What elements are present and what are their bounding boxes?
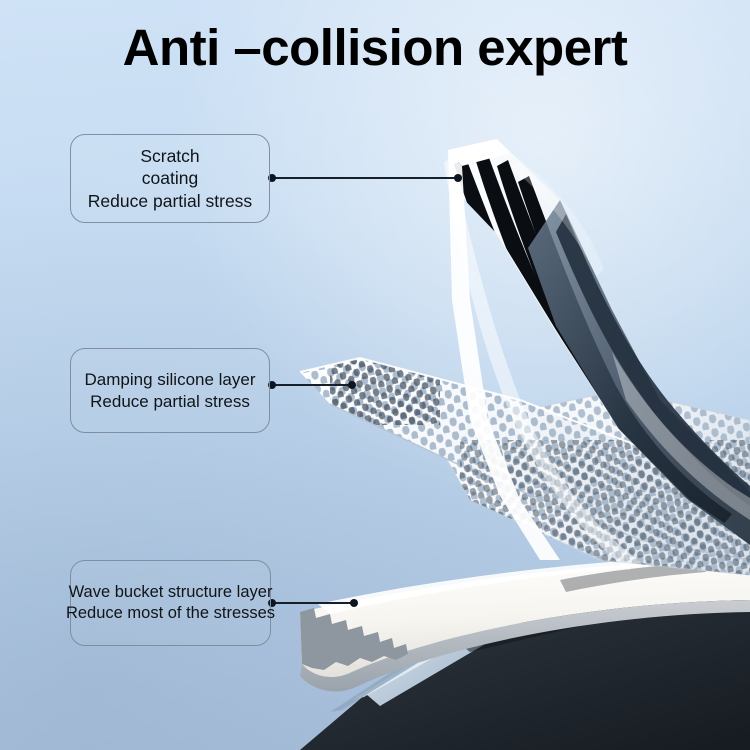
leader-line-scratch-coating (270, 177, 460, 179)
leader-line-damping-silicone (270, 384, 354, 386)
callout-wave-bucket-structure-layer: Wave bucket structure layer Reduce most … (70, 560, 271, 646)
callout-line: coating (142, 167, 198, 189)
callout-damping-silicone-layer: Damping silicone layer Reduce partial st… (70, 348, 270, 433)
leader-line-wave-bucket (270, 602, 356, 604)
callout-line: Damping silicone layer (84, 369, 255, 390)
callout-line: Reduce partial stress (88, 190, 252, 212)
callout-line: Reduce most of the stresses (66, 603, 275, 624)
callout-scratch-coating: Scratch coating Reduce partial stress (70, 134, 270, 223)
poster-canvas: Anti –collision expert Scratch coating R… (0, 0, 750, 750)
callout-line: Scratch (140, 145, 199, 167)
callout-line: Wave bucket structure layer (69, 582, 273, 603)
callout-line: Reduce partial stress (90, 391, 250, 412)
page-title: Anti –collision expert (0, 18, 750, 77)
